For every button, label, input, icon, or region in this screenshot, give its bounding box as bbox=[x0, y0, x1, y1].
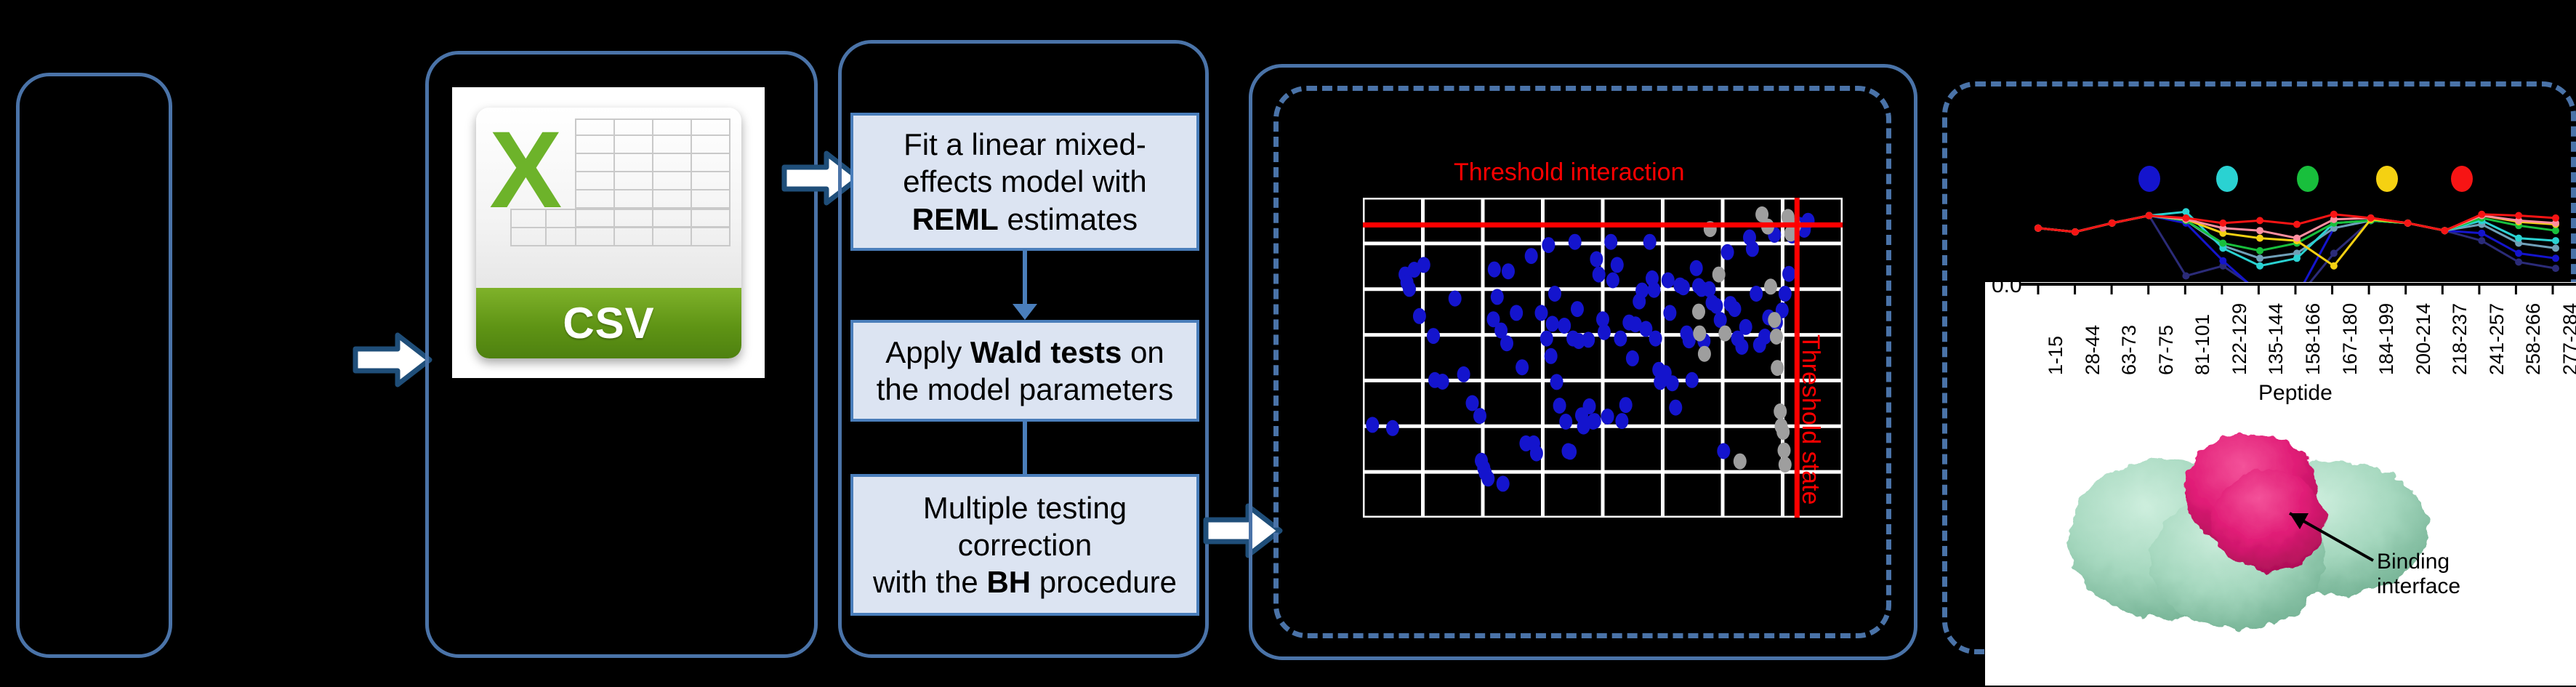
peptide-tick-label: 63-73 bbox=[2118, 325, 2141, 375]
wald-line1-pre: Apply bbox=[885, 335, 970, 369]
threshold-interaction-label: Threshold interaction bbox=[1454, 158, 1685, 187]
peptide-tick-label: 241-257 bbox=[2486, 303, 2508, 375]
peptide-tick-label: 135-144 bbox=[2265, 303, 2287, 375]
connector-2 bbox=[1023, 422, 1027, 476]
peptide-tick-label: 28-44 bbox=[2082, 325, 2104, 375]
peptide-tick-label: 167-180 bbox=[2339, 303, 2362, 375]
peptide-axis-label: Peptide bbox=[2258, 381, 2333, 406]
peptide-tick-label: 184-199 bbox=[2375, 303, 2398, 375]
volcano-scatter-svg bbox=[1363, 198, 1843, 518]
csv-file-icon: X CSV bbox=[476, 108, 741, 358]
panel-input bbox=[16, 73, 172, 658]
fit-model-line3-post: estimates bbox=[999, 202, 1138, 236]
binding-interface-line1: Binding bbox=[2377, 550, 2460, 574]
connector-1 bbox=[1023, 251, 1027, 305]
y-axis-tick-zero: 0.0 bbox=[1992, 273, 2022, 298]
legend-dot-4 bbox=[2376, 166, 2398, 192]
peptide-tick-label: 277-284 bbox=[2559, 303, 2576, 375]
peptide-tick-label: 218-237 bbox=[2449, 303, 2471, 375]
volcano-scatter-chart bbox=[1363, 198, 1843, 518]
wald-test-step: Apply Wald tests on the model parameters bbox=[850, 320, 1199, 422]
peptide-tick-label: 158-166 bbox=[2302, 303, 2325, 375]
correction-line1: Multiple testing bbox=[923, 491, 1127, 525]
wald-line1-post: on bbox=[1122, 335, 1164, 369]
fit-model-line2: effects model with bbox=[903, 164, 1146, 198]
threshold-state-label: Threshold state bbox=[1796, 334, 1824, 505]
correction-bold: BH bbox=[986, 565, 1031, 599]
legend-dot-5 bbox=[2451, 166, 2473, 192]
peptide-tick-label: 258-266 bbox=[2522, 303, 2545, 375]
csv-icon-caption: CSV bbox=[563, 298, 654, 348]
correction-line2: correction bbox=[958, 528, 1092, 562]
wald-line2: the model parameters bbox=[877, 372, 1174, 406]
peptide-tick-label: 122-129 bbox=[2229, 303, 2251, 375]
figure-canvas: X CSV Fit a linear mixed- effects model … bbox=[0, 0, 2576, 687]
arrow-input-to-data bbox=[353, 331, 432, 389]
legend-dot-1 bbox=[2138, 166, 2160, 192]
peptide-axis bbox=[2021, 282, 2576, 298]
csv-icon-x-letter: X bbox=[489, 115, 562, 224]
correction-step: Multiple testing correction with the BH … bbox=[850, 474, 1199, 616]
correction-line3-pre: with the bbox=[873, 565, 986, 599]
peptide-tick-label: 200-214 bbox=[2412, 303, 2435, 375]
correction-line3-post: procedure bbox=[1031, 565, 1177, 599]
protein-structure-image bbox=[2050, 411, 2457, 651]
legend-dot-3 bbox=[2297, 166, 2319, 192]
peptide-tick-labels: 1-1528-4463-7367-7581-101122-129135-1441… bbox=[2021, 301, 2576, 388]
binding-interface-line2: interface bbox=[2377, 574, 2460, 599]
peptide-tick-label: 1-15 bbox=[2045, 336, 2067, 375]
peptide-tick-label: 81-101 bbox=[2191, 314, 2214, 375]
wald-bold: Wald tests bbox=[970, 335, 1122, 369]
fit-model-step: Fit a linear mixed- effects model with R… bbox=[850, 113, 1199, 251]
peptide-tick-label: 67-75 bbox=[2155, 325, 2178, 375]
connector-1-arrowhead bbox=[1013, 304, 1037, 320]
fit-model-line1: Fit a linear mixed- bbox=[903, 127, 1146, 161]
legend-dot-2 bbox=[2216, 166, 2238, 192]
binding-interface-label: Binding interface bbox=[2377, 550, 2460, 598]
csv-icon-label-band: CSV bbox=[476, 288, 741, 358]
fit-model-bold: REML bbox=[912, 202, 999, 236]
